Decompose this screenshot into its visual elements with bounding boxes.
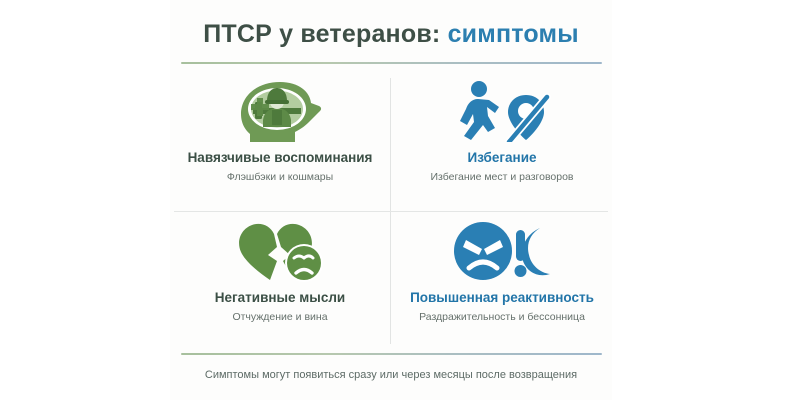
quadrant-subtitle: Отчуждение и вина	[232, 311, 327, 324]
quadrant-intrusive-memories[interactable]: Навязчивые воспоминания Флэшбэки и кошма…	[172, 72, 388, 208]
quadrant-title: Навязчивые воспоминания	[188, 150, 373, 166]
page-title-main: ПТСР у ветеранов:	[203, 20, 440, 48]
broken-heart-sad-face-icon	[227, 218, 333, 284]
quadrant-title: Повышенная реактивность	[410, 290, 594, 306]
walking-person-no-location-icon	[449, 78, 555, 144]
head-brain-soldier-icon	[227, 78, 333, 144]
quadrant-avoidance[interactable]: Избегание Избегание мест и разговоров	[394, 72, 610, 208]
quadrant-title: Негативные мысли	[215, 290, 345, 306]
symptom-grid: Навязчивые воспоминания Флэшбэки и кошма…	[170, 72, 612, 350]
quadrant-title: Избегание	[467, 150, 536, 166]
quadrant-hyperarousal[interactable]: Повышенная реактивность Раздражительност…	[394, 212, 610, 348]
page-title: ПТСР у ветеранов: симптомы	[170, 18, 612, 50]
angry-face-exclamation-moon-icon	[449, 218, 555, 284]
quadrant-subtitle: Раздражительность и бессонница	[419, 311, 585, 324]
title-area: ПТСР у ветеранов: симптомы	[170, 18, 612, 50]
page-title-accent: симптомы	[448, 20, 579, 48]
divider-bottom	[181, 353, 602, 355]
divider-top	[181, 62, 602, 64]
infographic-slide: ПТСР у ветеранов: симптомы	[0, 0, 800, 400]
quadrant-negative-thoughts[interactable]: Негативные мысли Отчуждение и вина	[172, 212, 388, 348]
footer-note: Симптомы могут появиться сразу или через…	[170, 368, 612, 382]
quadrant-subtitle: Флэшбэки и кошмары	[227, 171, 333, 184]
quadrant-subtitle: Избегание мест и разговоров	[430, 171, 573, 184]
